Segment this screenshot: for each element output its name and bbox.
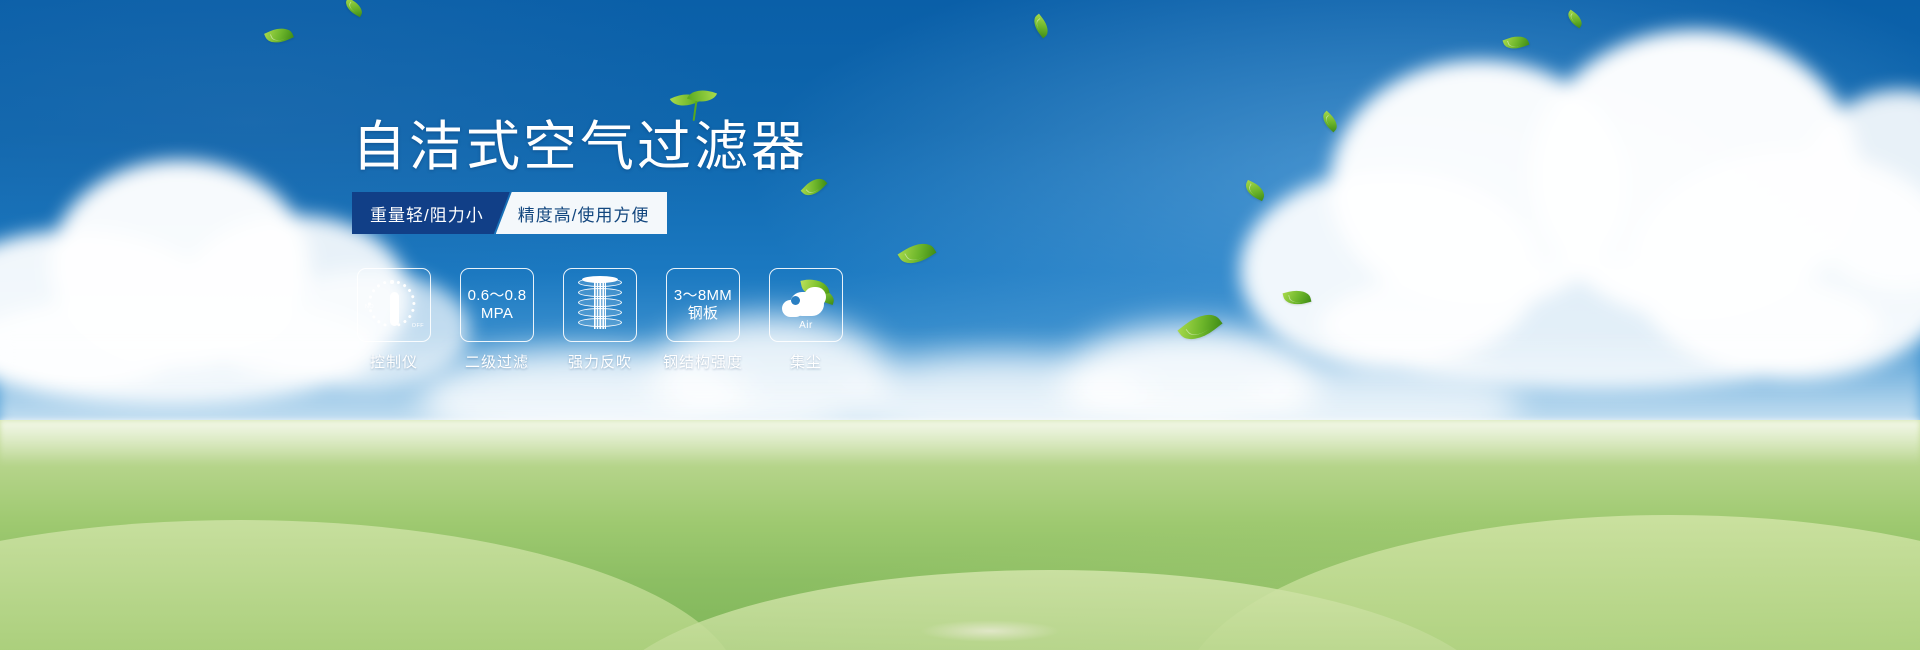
dial-label-off: OFF	[412, 323, 424, 329]
dial-label-no: NO	[365, 304, 374, 310]
feature-item-two-stage-filter: 0.6～0.8 MPA 二级过滤	[455, 268, 539, 372]
page-title: 自洁式空气过滤器	[352, 118, 808, 176]
pressure-text-icon: 0.6～0.8 MPA	[460, 268, 534, 342]
feature-label: 二级过滤	[465, 351, 529, 372]
tag-label: 精度高/使用方便	[518, 201, 650, 226]
feature-label: 钢结构强度	[663, 351, 743, 372]
pressure-value-line1: 0.6～0.8	[468, 287, 527, 305]
feature-label: 控制仪	[370, 351, 418, 372]
air-label: Air	[778, 320, 834, 331]
feature-item-steel-strength: 3～8MM 钢板 钢结构强度	[661, 268, 745, 372]
feature-icon-row: NO OFF 控制仪 0.6～0.8 MPA 二级过滤	[352, 268, 848, 372]
feature-item-controller: NO OFF 控制仪	[352, 268, 436, 372]
feature-tag-row: 重量轻/阻力小 精度高/使用方便	[352, 192, 667, 234]
banner-content: 自洁式空气过滤器 重量轻/阻力小 精度高/使用方便	[0, 0, 1920, 650]
feature-label: 强力反吹	[568, 351, 632, 372]
cartridge-graphic	[578, 278, 622, 332]
feature-label: 集尘	[790, 351, 822, 372]
steel-value-line1: 3～8MM	[674, 287, 732, 305]
filter-cartridge-icon	[563, 268, 637, 342]
steel-plate-text-icon: 3～8MM 钢板	[666, 268, 740, 342]
steel-value-line2: 钢板	[688, 305, 719, 323]
product-hero-banner: 自洁式空气过滤器 重量轻/阻力小 精度高/使用方便	[0, 0, 1920, 650]
tag-precision-ease: 精度高/使用方便	[496, 192, 668, 234]
air-cloud-icon: Air	[769, 268, 843, 342]
feature-item-blowback: 强力反吹	[558, 268, 642, 372]
pressure-value-line2: MPA	[481, 305, 513, 323]
control-dial-icon: NO OFF	[357, 268, 431, 342]
tag-weight-resistance: 重量轻/阻力小	[352, 192, 510, 234]
leaf-sprig-icon	[672, 88, 720, 128]
dial-graphic: NO OFF	[366, 279, 422, 331]
tag-label: 重量轻/阻力小	[370, 201, 484, 226]
cloud-graphic: Air	[778, 280, 834, 330]
feature-item-dust-collection: Air 集尘	[764, 268, 848, 372]
